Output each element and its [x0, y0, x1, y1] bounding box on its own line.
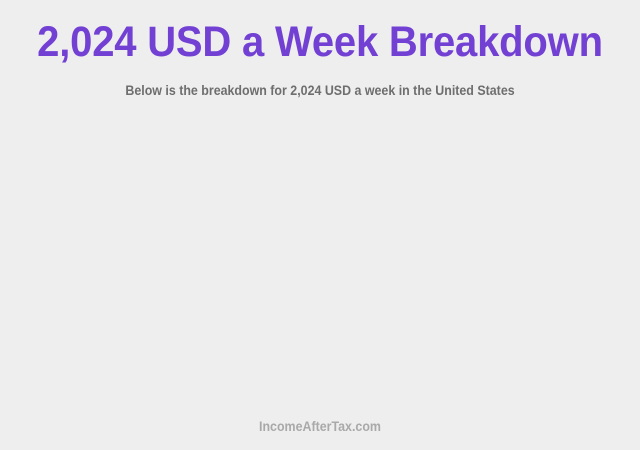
page-footer: IncomeAfterTax.com	[0, 419, 640, 450]
page-subtitle: Below is the breakdown for 2,024 USD a w…	[26, 67, 615, 99]
page-header: 2,024 USD a Week Breakdown Below is the …	[0, 0, 640, 99]
page-title: 2,024 USD a Week Breakdown	[22, 18, 617, 67]
breakdown-page: 2,024 USD a Week Breakdown Below is the …	[0, 0, 640, 450]
breakdown-content-area	[0, 99, 640, 419]
site-credit-label: IncomeAfterTax.com	[26, 419, 615, 435]
